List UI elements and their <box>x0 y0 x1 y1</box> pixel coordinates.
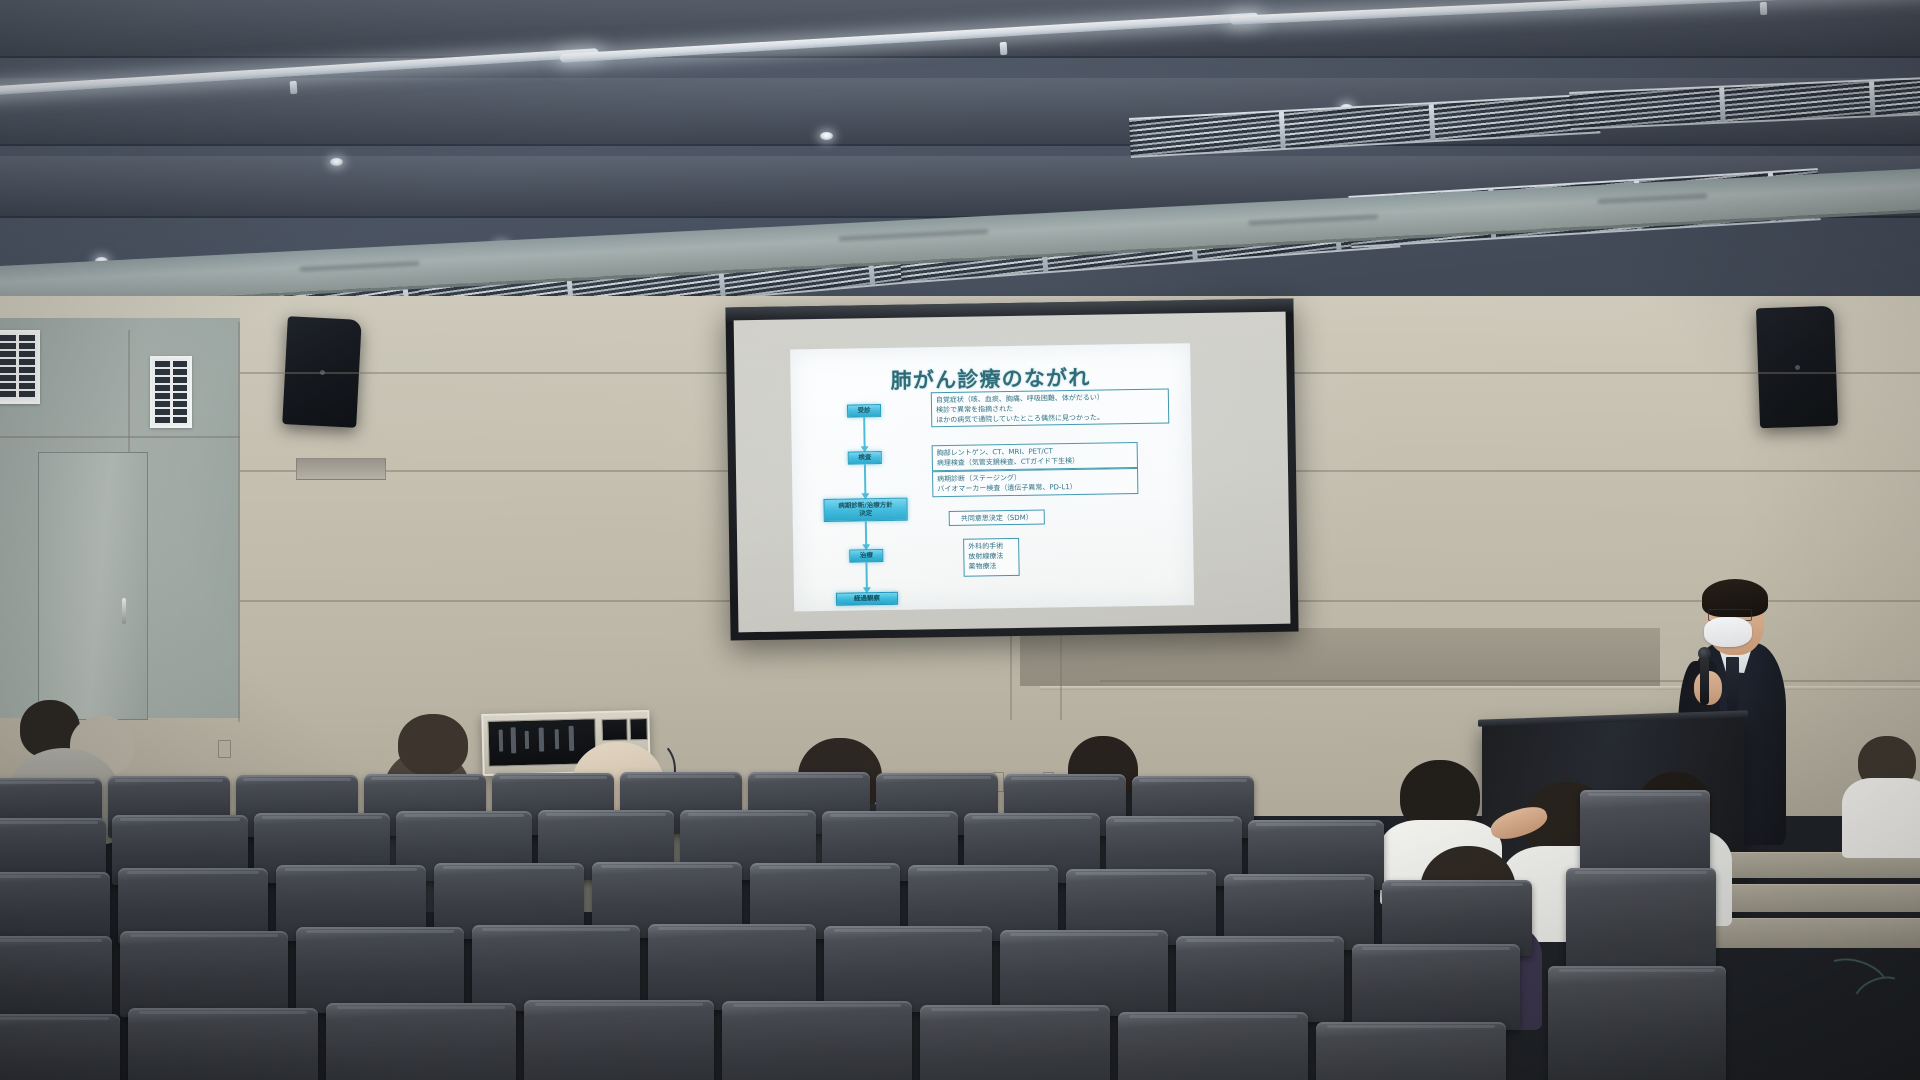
door-handle[interactable] <box>122 598 126 624</box>
flow-node-3: 病期診断/治療方針 決定 <box>823 498 907 522</box>
presenter-tie <box>1726 657 1739 717</box>
wall-recess-band <box>1020 628 1660 686</box>
aisle-step <box>1700 884 1920 912</box>
av-display-small <box>629 718 648 740</box>
slide-callout-examinations: 胸部レントゲン、CT、MRI、PET/CT 病理検査（気管支鏡検査、CTガイド下… <box>932 442 1138 471</box>
auditorium-seat[interactable] <box>722 1001 912 1080</box>
audience-member <box>1400 760 1480 834</box>
presenter-face-mask <box>1704 617 1752 647</box>
auditorium-seat[interactable] <box>120 931 288 1017</box>
av-display-small <box>601 718 628 741</box>
slide-callout-treatments: 外科的手術 放射線療法 薬物療法 <box>963 538 1020 577</box>
slide-flowchart: 受診 検査 病期診断/治療方針 決定 治療 経過観察 <box>821 404 910 606</box>
wall-vent-slot <box>296 458 386 480</box>
auditorium-seat[interactable] <box>0 936 112 1022</box>
wall-outlet[interactable] <box>218 740 231 758</box>
flow-node-1: 受診 <box>847 404 881 418</box>
auditorium-seat[interactable] <box>824 926 992 1012</box>
flow-node-2: 検査 <box>848 451 882 465</box>
projection-screen-assembly: 肺がん診療のながれ 受診 検査 病期診断/治療方針 決定 治療 経過観察 自覚症… <box>725 299 1298 641</box>
auditorium-seat[interactable] <box>128 1008 318 1080</box>
auditorium-seat[interactable] <box>1548 966 1726 1080</box>
microphone-body[interactable] <box>1700 657 1709 705</box>
auditorium-seat[interactable] <box>472 925 640 1011</box>
auditorium-seat[interactable] <box>1000 930 1168 1016</box>
audience-member <box>398 714 468 776</box>
auditorium-photo: 肺がん診療のながれ 受診 検査 病期診断/治療方針 決定 治療 経過観察 自覚症… <box>0 0 1920 1080</box>
wall-louver-window <box>150 356 192 428</box>
wall-speaker-right <box>1756 306 1838 429</box>
presentation-slide: 肺がん診療のながれ 受診 検査 病期診断/治療方針 決定 治療 経過観察 自覚症… <box>790 343 1194 611</box>
ceiling-downlight <box>330 158 343 166</box>
auditorium-seat[interactable] <box>920 1005 1110 1080</box>
slide-callout-symptoms: 自覚症状（咳、血痰、胸痛、呼吸困難、体がだるい） 検診で異常を指摘された ほかの… <box>931 389 1170 428</box>
wall-louver-window <box>0 330 40 404</box>
audience-member <box>1858 736 1916 790</box>
auditorium-seat[interactable] <box>1352 944 1520 1030</box>
auditorium-seat[interactable] <box>296 927 464 1013</box>
auditorium-seat[interactable] <box>0 1014 120 1080</box>
slide-callout-staging: 病期診断（ステージング） バイオマーカー検査（遺伝子異常、PD-L1） <box>932 468 1138 497</box>
slide-callout-shared-decision: 共同意思決定（SDM） <box>949 509 1045 526</box>
flow-node-5: 経過観察 <box>836 592 898 606</box>
auditorium-seat[interactable] <box>524 1000 714 1080</box>
ceiling-downlight <box>820 132 833 140</box>
auditorium-seat[interactable] <box>1176 936 1344 1022</box>
side-door[interactable] <box>38 452 148 720</box>
auditorium-seat[interactable] <box>648 924 816 1010</box>
flow-node-4: 治療 <box>849 549 883 563</box>
auditorium-seat[interactable] <box>1316 1022 1506 1080</box>
screen-fabric: 肺がん診療のながれ 受診 検査 病期診断/治療方針 決定 治療 経過観察 自覚症… <box>734 312 1291 633</box>
auditorium-seat[interactable] <box>1118 1012 1308 1080</box>
auditorium-seat[interactable] <box>326 1003 516 1080</box>
